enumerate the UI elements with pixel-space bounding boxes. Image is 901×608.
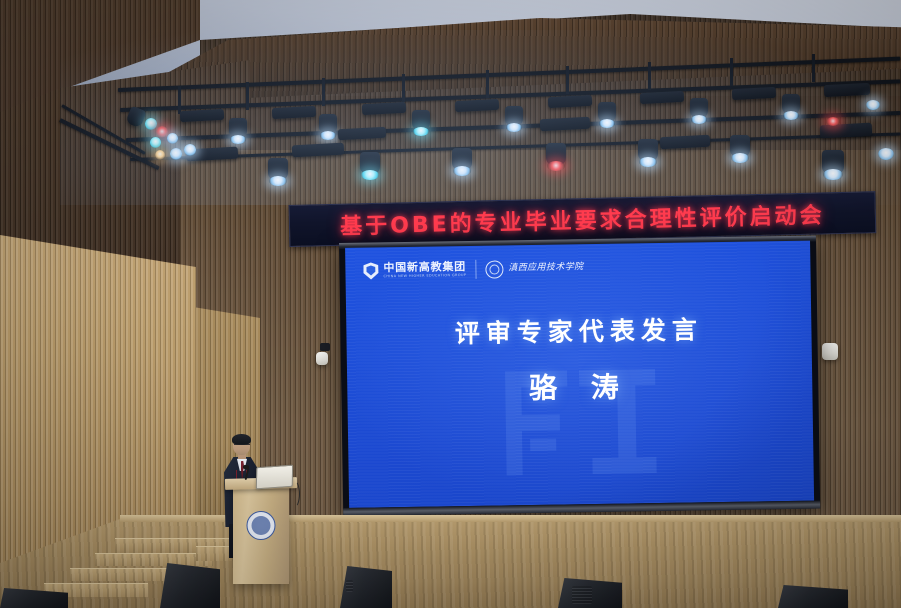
screen-surface: 中国新高教集团 CHINA NEW HIGHER EDUCATION GROUP…: [345, 241, 814, 508]
floor-monitor-speaker: [340, 566, 392, 608]
floor-monitor-speaker: [160, 563, 220, 608]
stage-step: [70, 568, 180, 581]
monitor-grille: [572, 586, 592, 604]
wall-speaker: [822, 343, 838, 360]
screen-title: 评审专家代表发言: [346, 309, 812, 352]
glasses-icon: [234, 444, 250, 449]
logo-china-new-higher-education-group: 中国新高教集团 CHINA NEW HIGHER EDUCATION GROUP: [363, 261, 466, 280]
screen-logo-row: 中国新高教集团 CHINA NEW HIGHER EDUCATION GROUP…: [363, 258, 583, 280]
microphone-head: [243, 465, 249, 469]
monitor-grille: [346, 580, 353, 592]
logo-name-cn: 中国新高教集团: [383, 261, 466, 273]
event-banner-text: 基于OBE的专业毕业要求合理性评价启动会: [340, 197, 825, 240]
wall-speaker: [316, 352, 328, 365]
logo-divider: [475, 260, 476, 279]
conference-hall-photo: 基于OBE的专业毕业要求合理性评价启动会 中国新高教集团 CHINA NEW H…: [0, 0, 901, 608]
circle-seal-icon: [485, 260, 503, 278]
logo-text-block: 滇西应用技术学院: [508, 263, 583, 273]
floor-monitor-speaker: [558, 578, 622, 608]
led-display-screen: 中国新高教集团 CHINA NEW HIGHER EDUCATION GROUP…: [339, 236, 820, 516]
screen-speaker-name: 骆 涛: [347, 363, 813, 410]
laptop-cable: [288, 480, 300, 508]
speaker-bracket: [320, 343, 330, 351]
logo-name-cn: 滇西应用技术学院: [508, 263, 583, 273]
podium: [233, 485, 289, 584]
logo-text-block: 中国新高教集团 CHINA NEW HIGHER EDUCATION GROUP: [383, 261, 466, 279]
institution-crest-icon: [247, 511, 276, 540]
logo-institute: 滇西应用技术学院: [485, 259, 583, 279]
logo-name-en: CHINA NEW HIGHER EDUCATION GROUP: [384, 274, 467, 279]
monitor-face: [160, 563, 220, 608]
shield-icon: [363, 262, 378, 279]
